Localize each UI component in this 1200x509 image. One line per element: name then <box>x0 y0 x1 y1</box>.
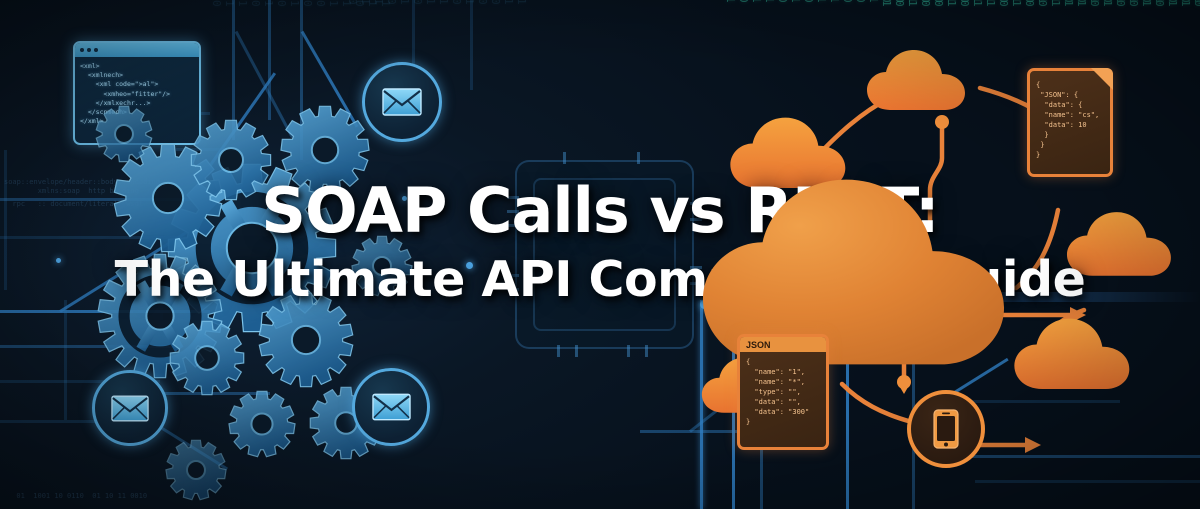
json-card-bottom[interactable]: JSON { "name": "1", "name": "*", "type":… <box>737 334 829 450</box>
circuit-node <box>402 196 407 201</box>
gear-icon <box>222 384 302 464</box>
cloud-icon-top[interactable] <box>865 48 969 114</box>
envelope-badge-top[interactable] <box>362 62 442 142</box>
circuit-trace <box>268 0 271 120</box>
gear-icon <box>274 99 376 201</box>
envelope-badge-bottom-right[interactable] <box>352 368 430 446</box>
xml-window-titlebar <box>75 43 199 57</box>
gear-icon <box>184 113 278 207</box>
envelope-icon <box>372 393 411 421</box>
mobile-badge[interactable] <box>907 390 985 468</box>
cpu-chip-icon <box>515 160 694 349</box>
circuit-trace <box>470 0 473 90</box>
cloud-icon-right-upper[interactable] <box>1064 210 1176 280</box>
json-card-top[interactable]: { "JSON": { "data": { "name": "cs", "dat… <box>1027 68 1113 177</box>
gear-icon <box>89 99 159 169</box>
gear-icon <box>252 286 360 394</box>
circuit-trace <box>4 150 7 290</box>
binary-column: 1 0 0 1 0 1 1 0 1 0 0 1 0 1 1 0 1 1 0 1 … <box>1062 0 1200 6</box>
window-dot-icon[interactable] <box>94 48 98 52</box>
circuit-node <box>466 262 473 269</box>
circuit-trace <box>64 300 67 420</box>
gear-icon <box>159 433 233 507</box>
gear-icon <box>345 229 419 303</box>
binary-column: 1 1 0 0 1 0 1 1 0 1 0 1 1 0 <box>346 0 528 6</box>
envelope-icon <box>111 395 149 422</box>
faint-code-text: 01 1001 10 0110 01 10 11 0010 <box>8 492 147 501</box>
json-card-label: JSON <box>740 337 826 352</box>
circuit-node <box>56 258 61 263</box>
banner-image: 0 1 1 0 1 0 0 1 0 1 1 0 1 0 0 0 1 0 1 1 … <box>0 0 1200 509</box>
envelope-icon <box>382 88 422 116</box>
json-code-text: { "JSON": { "data": { "name": "cs", "dat… <box>1030 71 1110 169</box>
envelope-badge-bottom-left[interactable] <box>92 370 168 446</box>
window-dot-icon[interactable] <box>80 48 84 52</box>
window-dot-icon[interactable] <box>87 48 91 52</box>
mobile-phone-icon <box>933 409 959 449</box>
cloud-icon-right-lower[interactable] <box>1012 316 1134 394</box>
